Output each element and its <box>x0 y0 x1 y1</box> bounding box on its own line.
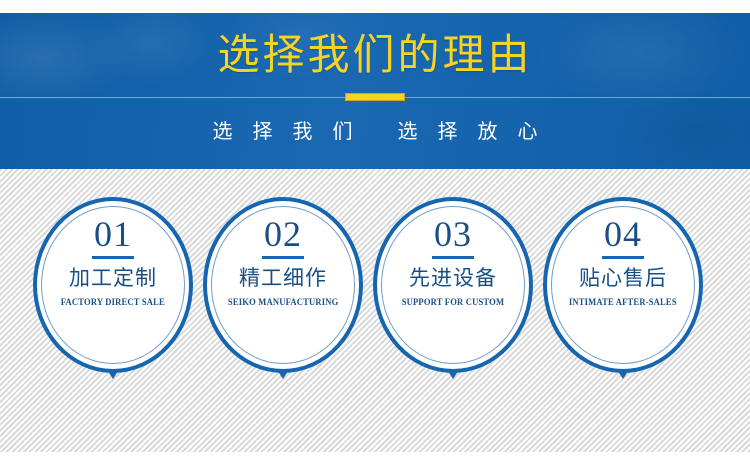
feature-badge-03[interactable]: 03 先进设备 SUPPORT FOR CUSTOM <box>373 197 533 397</box>
badge-content: 01 加工定制 FACTORY DIRECT SALE <box>33 197 193 373</box>
badge-title-en: FACTORY DIRECT SALE <box>61 295 165 309</box>
badge-divider <box>262 256 304 259</box>
badge-number: 02 <box>264 215 302 253</box>
feature-badge-04[interactable]: 04 贴心售后 INTIMATE AFTER-SALES <box>543 197 703 397</box>
page-subtitle: 选择我们 选择放心 <box>0 117 750 147</box>
badge-title-cn: 贴心售后 <box>579 265 667 291</box>
page-title: 选择我们的理由 <box>0 27 750 85</box>
feature-badge-01[interactable]: 01 加工定制 FACTORY DIRECT SALE <box>33 197 193 397</box>
badge-content: 02 精工细作 SEIKO MANUFACTURING <box>203 197 363 373</box>
badge-content: 04 贴心售后 INTIMATE AFTER-SALES <box>543 197 703 373</box>
badge-title-en: SEIKO MANUFACTURING <box>228 295 339 309</box>
bottom-white-gutter <box>0 452 750 465</box>
badge-title-cn: 加工定制 <box>69 265 157 291</box>
title-underline-accent <box>345 93 405 101</box>
badge-title-en: INTIMATE AFTER-SALES <box>569 295 677 309</box>
top-white-gutter <box>0 0 750 13</box>
badge-content: 03 先进设备 SUPPORT FOR CUSTOM <box>373 197 533 373</box>
feature-badge-list: 01 加工定制 FACTORY DIRECT SALE 02 精工细作 SEIK… <box>0 169 750 452</box>
badge-number: 03 <box>434 215 472 253</box>
promo-banner-page: 选择我们的理由 选择我们 选择放心 01 加工定制 FACTORY DIRECT… <box>0 0 750 465</box>
header-banner: 选择我们的理由 选择我们 选择放心 <box>0 13 750 169</box>
badge-number: 04 <box>604 215 642 253</box>
badge-divider <box>602 256 644 259</box>
badge-number: 01 <box>94 215 132 253</box>
badge-divider <box>92 256 134 259</box>
badge-divider <box>432 256 474 259</box>
badge-title-cn: 先进设备 <box>409 265 497 291</box>
badge-title-en: SUPPORT FOR CUSTOM <box>402 295 505 309</box>
badge-title-cn: 精工细作 <box>239 265 327 291</box>
feature-badge-02[interactable]: 02 精工细作 SEIKO MANUFACTURING <box>203 197 363 397</box>
